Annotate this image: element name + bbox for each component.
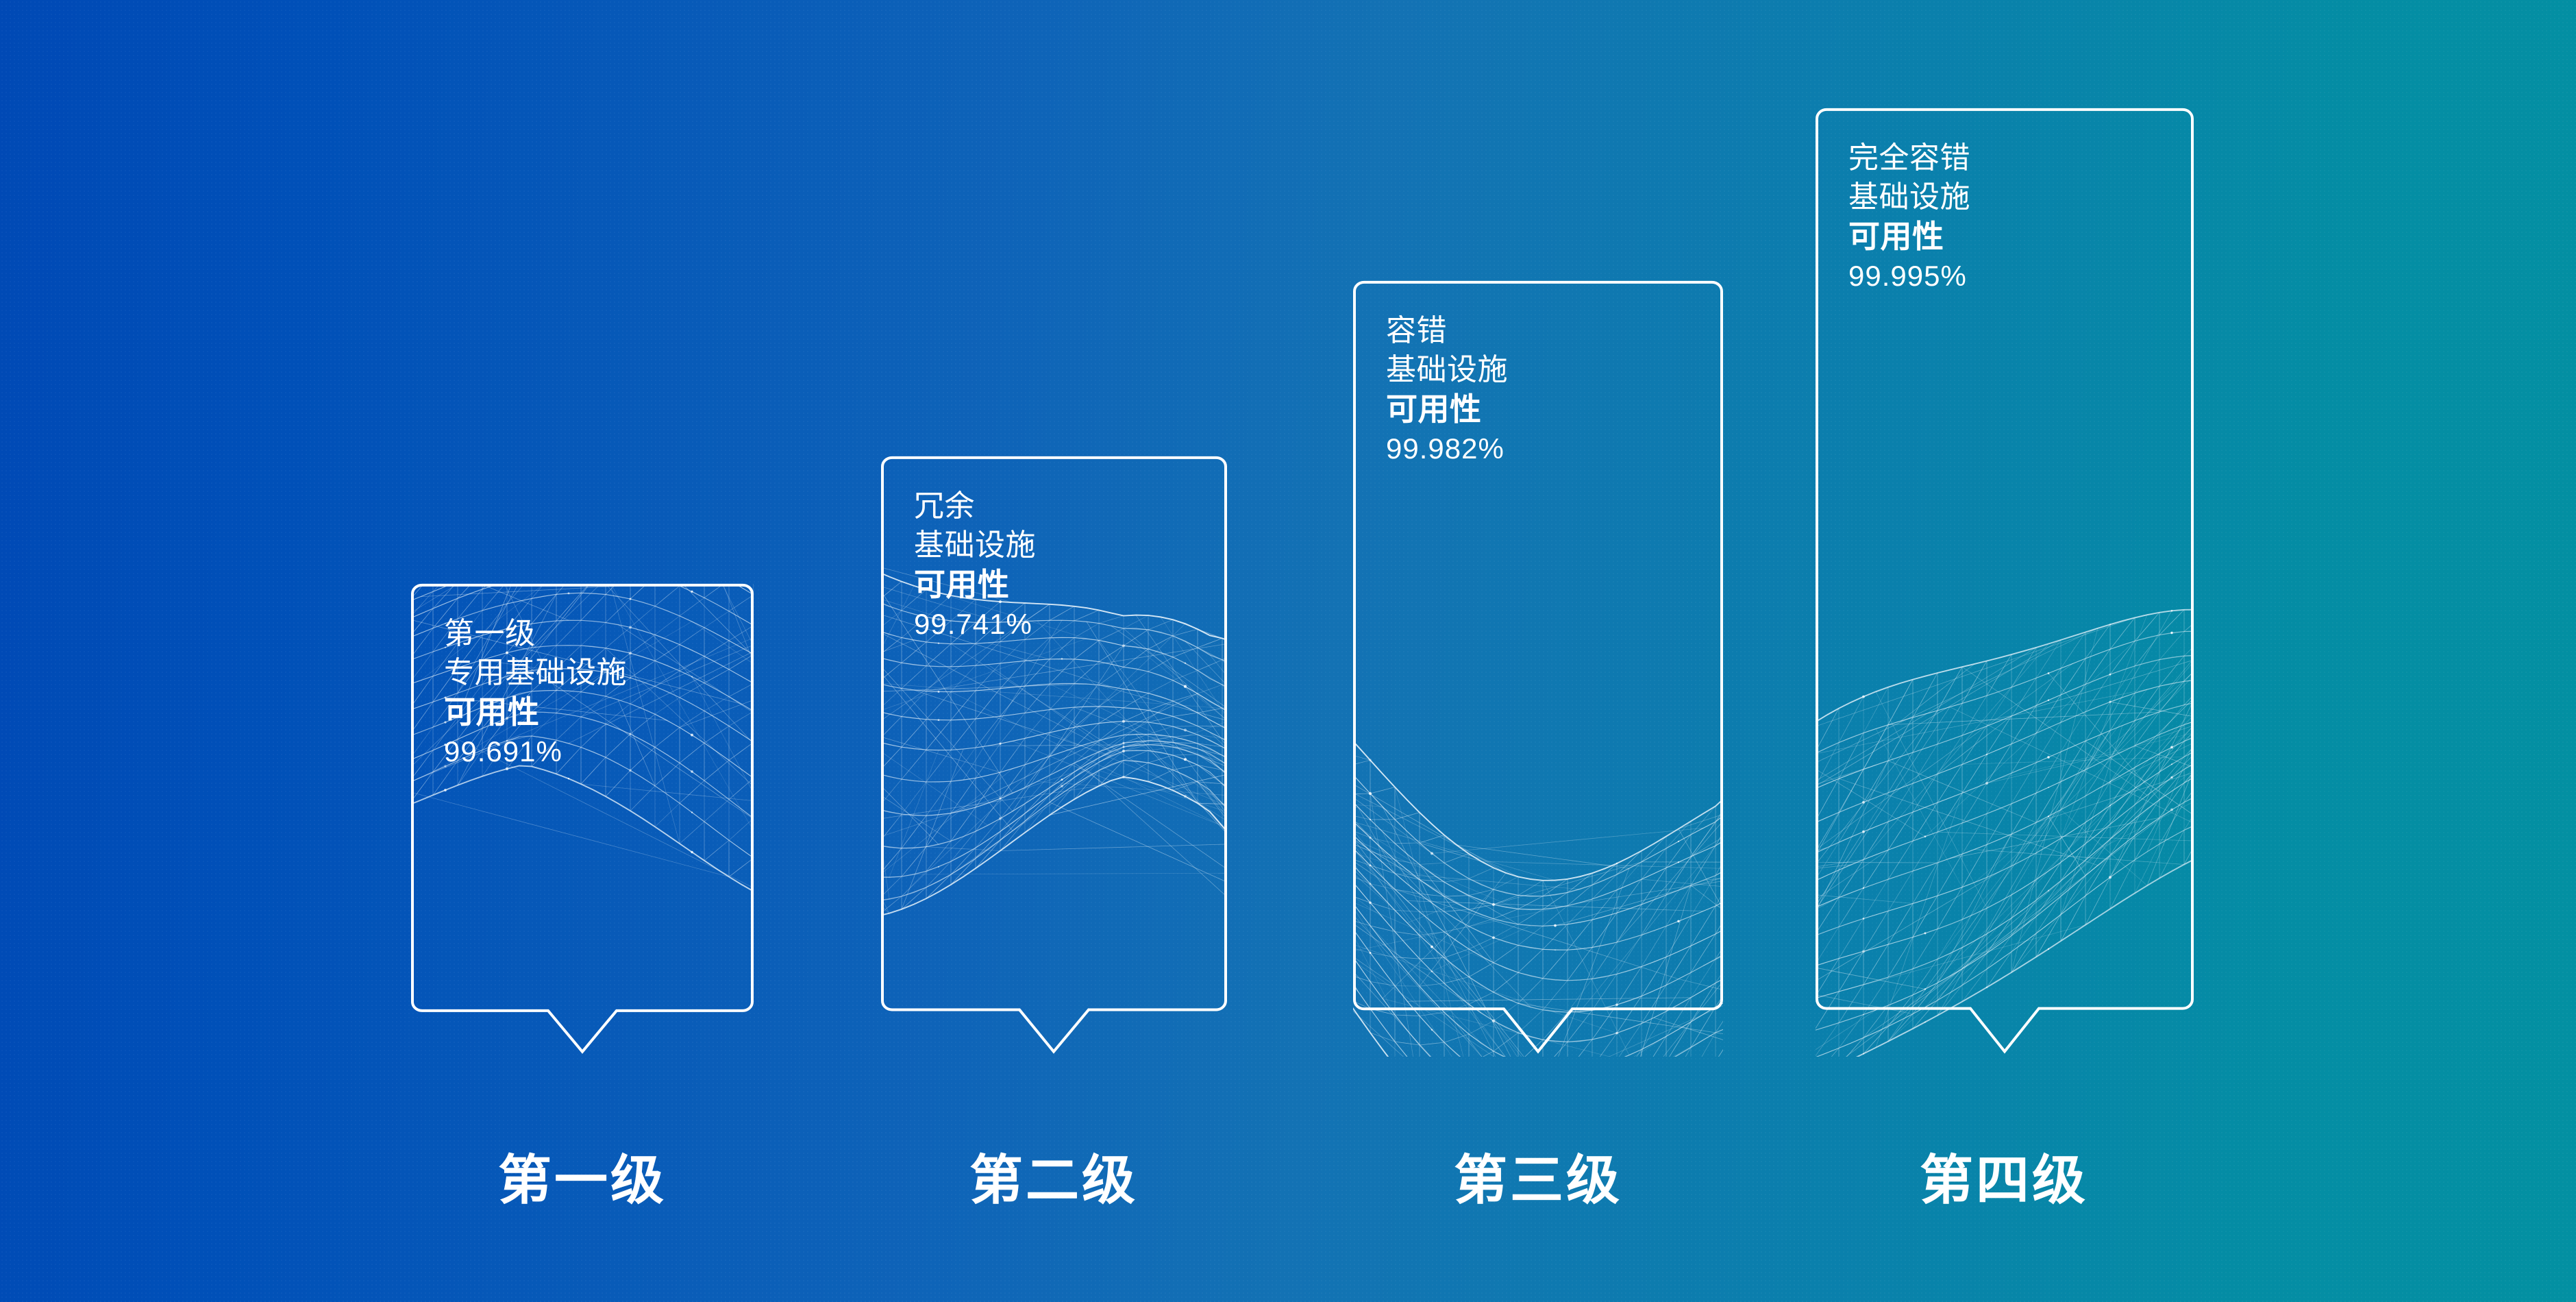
tier-name-4: 完全容错	[1848, 138, 2194, 177]
infrastructure-2: 基础设施	[914, 526, 1227, 565]
availability-label-3: 可用性	[1386, 389, 1723, 430]
card-text-4: 完全容错 基础设施 可用性 99.995%	[1816, 108, 2194, 295]
availability-value-3: 99.982%	[1386, 430, 1723, 468]
tier-label-4: 第四级	[1920, 1138, 2088, 1214]
tier-card-2[interactable]: 冗余 基础设施 可用性 99.741%	[881, 456, 1227, 1057]
tier-label-1: 第一级	[498, 1138, 667, 1214]
availability-label-2: 可用性	[914, 565, 1227, 606]
card-text-1: 第一级 专用基础设施 可用性 99.691%	[411, 584, 754, 771]
tier-card-4[interactable]: 完全容错 基础设施 可用性 99.995%	[1816, 108, 2194, 1057]
tier-label-2: 第二级	[969, 1138, 1138, 1214]
tier-card-3[interactable]: 容错 基础设施 可用性 99.982%	[1353, 281, 1723, 1057]
availability-label-4: 可用性	[1848, 217, 2194, 258]
infrastructure-3: 基础设施	[1386, 350, 1723, 389]
tier-label-3: 第三级	[1454, 1138, 1622, 1214]
infrastructure-1: 专用基础设施	[444, 653, 754, 692]
tier-name-2: 冗余	[914, 487, 1227, 526]
card-text-3: 容错 基础设施 可用性 99.982%	[1353, 281, 1723, 468]
tier-name-3: 容错	[1386, 311, 1723, 350]
card-text-2: 冗余 基础设施 可用性 99.741%	[881, 456, 1227, 643]
availability-value-1: 99.691%	[444, 733, 754, 771]
availability-label-1: 可用性	[444, 692, 754, 733]
tier-name-1: 第一级	[444, 614, 754, 653]
availability-value-4: 99.995%	[1848, 258, 2194, 295]
availability-value-2: 99.741%	[914, 606, 1227, 643]
tier-card-1[interactable]: 第一级 专用基础设施 可用性 99.691%	[411, 584, 754, 1057]
infrastructure-4: 基础设施	[1848, 177, 2194, 217]
infographic-canvas: 第一级 专用基础设施 可用性 99.691% 第一级 冗余 基础设施 可用性 9…	[0, 0, 2576, 1302]
